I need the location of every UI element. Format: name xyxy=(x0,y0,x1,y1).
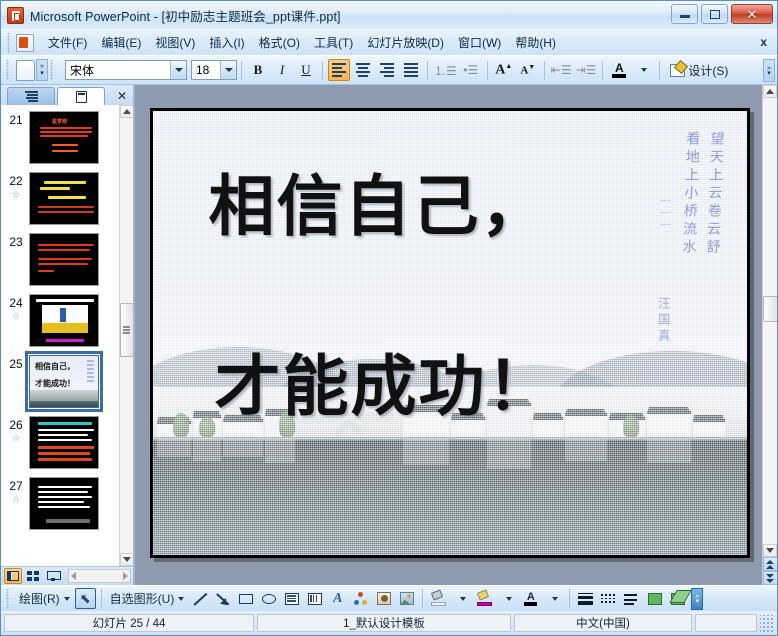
vertical-text-box-icon xyxy=(308,593,322,605)
drawbar-separator-2 xyxy=(422,589,423,608)
slide-thumbnail[interactable] xyxy=(29,477,99,530)
slide-headline-line-1[interactable]: 相信自己， xyxy=(209,153,549,249)
scroll-up-button[interactable] xyxy=(120,105,134,118)
font-color-icon: A xyxy=(524,592,537,606)
status-bar: 幻灯片 25 / 44 1_默认设计模板 中文(中国) xyxy=(1,611,777,635)
menu-item-file[interactable]: 文件(F) xyxy=(41,31,94,54)
title-bar: Microsoft PowerPoint - [初中励志主题班会_ppt课件.p… xyxy=(1,1,777,29)
toolbar-separator-3 xyxy=(427,61,428,80)
bulleted-list-icon: •☰ xyxy=(463,63,478,77)
view-mode-bar xyxy=(1,566,133,585)
calligraphy-dash: ｜｜｜ xyxy=(656,195,672,231)
calligraphy-column-1: 望天上云卷云舒 xyxy=(698,131,724,345)
scrollbar-thumb[interactable] xyxy=(120,303,134,357)
picture-icon xyxy=(400,592,414,605)
font-name-value: 宋体 xyxy=(70,62,94,79)
powerpoint-icon xyxy=(7,7,24,24)
diagram-icon xyxy=(354,592,368,606)
drawbar-gripper[interactable] xyxy=(4,589,13,609)
slide-editing-area: 望天上云卷云舒 看地上小桥流水 ｜｜｜ 汪国真 相信自己， 才能成功！ xyxy=(135,85,777,585)
line-color-button[interactable] xyxy=(474,588,495,609)
current-slide[interactable]: 望天上云卷云舒 看地上小桥流水 ｜｜｜ 汪国真 相信自己， 才能成功！ xyxy=(150,108,750,558)
oval-tool-button[interactable] xyxy=(258,588,279,609)
decrease-font-size-button[interactable]: A▼ xyxy=(517,59,539,81)
increase-indent-button[interactable]: ⇥☰ xyxy=(575,59,598,81)
close-button[interactable]: ✕ xyxy=(731,4,773,24)
draw-menu-label: 绘图(R) xyxy=(19,590,60,607)
menu-item-insert[interactable]: 插入(I) xyxy=(202,31,251,54)
slide-thumbnail[interactable] xyxy=(29,416,99,469)
slide-number: 21 xyxy=(9,113,22,127)
align-center-button[interactable] xyxy=(352,59,374,81)
slide-thumbnail-selected[interactable]: 相信自己， 才能成功！ xyxy=(29,355,99,408)
arrow-style-icon xyxy=(624,592,639,605)
new-document-icon[interactable] xyxy=(16,60,35,81)
line-color-icon xyxy=(477,591,492,606)
tab-outline[interactable] xyxy=(7,87,55,105)
rectangle-icon xyxy=(239,594,253,604)
window-title: Microsoft PowerPoint - [初中励志主题班会_ppt课件.p… xyxy=(30,6,341,25)
slide-thumbnail[interactable] xyxy=(29,233,99,286)
menu-item-help[interactable]: 帮助(H) xyxy=(508,31,563,54)
transition-star-icon: ☆ xyxy=(12,189,20,200)
thumb-meta: 25 xyxy=(3,355,29,371)
tab-slides[interactable] xyxy=(57,87,105,105)
drawbar-separator-1 xyxy=(101,589,102,608)
toolbar-gripper-2[interactable] xyxy=(48,60,57,80)
thumb-meta: 24 ☆ xyxy=(3,294,29,322)
list-item[interactable]: 21 星梦想 xyxy=(1,111,119,164)
word-art-tool-button[interactable]: A xyxy=(327,588,348,609)
slide-sorter-icon xyxy=(27,571,39,581)
bold-button[interactable]: B xyxy=(247,59,269,81)
list-item[interactable]: 23 xyxy=(1,233,119,286)
close-document-icon[interactable]: x xyxy=(760,35,767,49)
font-size-input[interactable]: 18 xyxy=(191,60,237,80)
draw-menu-button[interactable]: 绘图(R) xyxy=(15,588,74,609)
slide-vertical-scrollbar[interactable] xyxy=(762,85,777,585)
line-tool-button[interactable] xyxy=(189,588,210,609)
slides-pane: ✕ 21 星梦想 xyxy=(1,85,135,585)
select-objects-button[interactable]: ⬉ xyxy=(75,588,96,609)
list-item[interactable]: 27 ☆ xyxy=(1,477,119,530)
normal-view-icon xyxy=(7,571,19,581)
font-name-input[interactable]: 宋体 xyxy=(65,60,187,80)
align-center-icon xyxy=(356,63,370,77)
slide-number: 24 xyxy=(9,296,22,310)
text-box-icon xyxy=(285,593,299,605)
arrow-icon xyxy=(216,592,230,606)
fill-color-icon xyxy=(431,591,446,606)
slide-number: 23 xyxy=(9,235,22,249)
align-justify-icon xyxy=(404,63,418,77)
underline-button[interactable]: U xyxy=(295,59,317,81)
window-controls: ✕ xyxy=(671,4,773,24)
align-right-icon xyxy=(380,63,394,77)
line-style-icon xyxy=(578,593,593,605)
editor-body: ✕ 21 星梦想 xyxy=(1,85,777,585)
thumb-meta: 26 ☆ xyxy=(3,416,29,444)
menu-item-window[interactable]: 窗口(W) xyxy=(451,31,508,54)
menu-bar: 文件(F) 编辑(E) 视图(V) 插入(I) 格式(O) 工具(T) 幻灯片放… xyxy=(1,29,777,55)
slide-scroll-down-button[interactable] xyxy=(763,544,777,557)
formatting-toolbar: »▾ 宋体 18 B I U ⒈☰ xyxy=(1,55,777,85)
autoshapes-menu-button[interactable]: 自选图形(U) xyxy=(106,588,189,609)
outline-icon xyxy=(25,91,38,102)
shadow-style-button[interactable] xyxy=(644,588,665,609)
transition-star-icon: ☆ xyxy=(12,433,20,444)
font-size-dropdown-icon[interactable] xyxy=(220,61,236,79)
slide-canvas-wrapper: 望天上云卷云舒 看地上小桥流水 ｜｜｜ 汪国真 相信自己， 才能成功！ xyxy=(135,85,762,585)
pane-horizontal-scrollbar[interactable] xyxy=(68,569,131,583)
thumbnail-scroll-region: 21 星梦想 22 xyxy=(1,105,133,566)
normal-view-button[interactable] xyxy=(4,568,22,584)
pane-tab-strip: ✕ xyxy=(1,85,133,105)
dash-style-icon xyxy=(601,594,616,603)
slide-number: 25 xyxy=(9,357,22,371)
toolbar-separator-7 xyxy=(659,61,660,80)
calligraphy-artwork: 望天上云卷云舒 看地上小桥流水 ｜｜｜ 汪国真 xyxy=(656,131,721,345)
thumb-meta: 23 xyxy=(3,233,29,249)
water-reflection xyxy=(153,437,747,555)
fill-color-dropdown-button[interactable] xyxy=(451,588,472,609)
thumbnail-list: 21 星梦想 22 xyxy=(1,105,119,566)
line-style-button[interactable] xyxy=(575,588,596,609)
previous-slide-button[interactable] xyxy=(763,557,778,571)
slide-scrollbar-track[interactable] xyxy=(763,98,778,544)
clip-art-icon xyxy=(377,592,391,605)
drawbar-separator-3 xyxy=(569,589,570,608)
decrease-indent-icon: ⇤☰ xyxy=(551,63,572,77)
arrow-style-button[interactable] xyxy=(621,588,642,609)
slide-background-image: 望天上云卷云舒 看地上小桥流水 ｜｜｜ 汪国真 相信自己， 才能成功！ xyxy=(153,111,747,555)
slide-sorter-button[interactable] xyxy=(24,568,42,584)
line-color-dropdown-button[interactable] xyxy=(497,588,518,609)
status-blank-cell xyxy=(695,614,757,632)
font-color-button-draw[interactable]: A xyxy=(520,588,541,609)
slide-headline-line-2[interactable]: 才能成功！ xyxy=(215,333,555,429)
3d-style-button[interactable] xyxy=(667,588,688,609)
dash-style-button[interactable] xyxy=(598,588,619,609)
align-justify-button[interactable] xyxy=(400,59,422,81)
scroll-left-icon[interactable] xyxy=(71,572,76,580)
slide-thumbnail[interactable] xyxy=(29,172,99,225)
resize-grip-icon[interactable] xyxy=(760,615,774,633)
font-color-dropdown-button-draw[interactable] xyxy=(543,588,564,609)
maximize-button[interactable] xyxy=(701,4,728,24)
slide-thumbnail[interactable] xyxy=(29,294,99,347)
thumb-meta: 22 ☆ xyxy=(3,172,29,200)
design-icon xyxy=(670,64,685,77)
menu-item-view[interactable]: 视图(V) xyxy=(148,31,202,54)
close-icon: ✕ xyxy=(747,8,758,21)
oval-icon xyxy=(262,594,276,604)
rectangle-tool-button[interactable] xyxy=(235,588,256,609)
italic-button[interactable]: I xyxy=(271,59,293,81)
fill-color-button[interactable] xyxy=(428,588,449,609)
calligraphy-signature: 汪国真 xyxy=(656,297,673,345)
minimize-button[interactable] xyxy=(671,4,698,24)
powerpoint-window: Microsoft PowerPoint - [初中励志主题班会_ppt课件.p… xyxy=(0,0,778,636)
design-button-label: 设计(S) xyxy=(688,62,728,79)
list-item[interactable]: 26 ☆ xyxy=(1,416,119,469)
font-color-icon: A xyxy=(610,59,628,81)
next-slide-button[interactable] xyxy=(763,571,778,585)
design-button[interactable]: 设计(S) xyxy=(664,59,734,82)
word-art-icon: A xyxy=(333,591,342,607)
font-size-value: 18 xyxy=(196,63,209,77)
align-left-button[interactable] xyxy=(328,59,350,81)
bulleted-list-button[interactable]: •☰ xyxy=(460,59,482,81)
font-name-dropdown-icon[interactable] xyxy=(170,61,186,79)
chevron-down-icon xyxy=(641,68,647,72)
slide-show-icon xyxy=(47,571,59,581)
increase-font-size-icon: A▲ xyxy=(495,62,512,79)
increase-font-size-button[interactable]: A▲ xyxy=(493,59,515,81)
slide-number: 27 xyxy=(9,479,22,493)
align-left-icon xyxy=(332,63,346,77)
numbered-list-icon: ⒈☰ xyxy=(434,62,457,79)
decrease-font-size-icon: A▼ xyxy=(520,63,535,77)
toolbar-separator-4 xyxy=(487,61,488,80)
calligraphy-column-2: 看地上小桥流水 xyxy=(674,131,700,345)
thumb-meta: 27 ☆ xyxy=(3,477,29,505)
thumb-meta: 21 xyxy=(3,111,29,127)
slide-scrollbar-thumb[interactable] xyxy=(763,296,778,322)
slide-number: 22 xyxy=(9,174,22,188)
toolbar-separator-1 xyxy=(241,61,242,80)
3d-style-icon xyxy=(671,593,685,605)
chevron-down-icon xyxy=(552,597,558,601)
toolbar-separator-6 xyxy=(602,61,603,80)
status-slide-counter: 幻灯片 25 / 44 xyxy=(4,614,254,632)
decrease-indent-button[interactable]: ⇤☰ xyxy=(550,59,573,81)
toolbar-overflow-left-button[interactable]: »▾ xyxy=(36,59,48,81)
toolbar-separator-2 xyxy=(322,61,323,80)
document-icon xyxy=(16,34,34,52)
toolbar-gripper-1[interactable] xyxy=(4,60,13,80)
scroll-right-icon[interactable] xyxy=(123,572,128,580)
transition-star-icon: ☆ xyxy=(12,311,20,322)
scrollbar-track[interactable] xyxy=(120,118,134,553)
align-right-button[interactable] xyxy=(376,59,398,81)
transition-star-icon: ☆ xyxy=(12,494,20,505)
slide-show-button[interactable] xyxy=(44,568,62,584)
numbered-list-button[interactable]: ⒈☰ xyxy=(433,59,458,81)
slides-icon xyxy=(76,91,87,103)
drawbar-overflow-button[interactable]: »▾ xyxy=(691,588,703,610)
toolbar-overflow-right-button[interactable]: »▾ xyxy=(763,59,775,82)
toolbar-separator-5 xyxy=(544,61,545,80)
clip-art-tool-button[interactable] xyxy=(373,588,394,609)
arrow-tool-button[interactable] xyxy=(212,588,233,609)
thumbnail-scrollbar[interactable] xyxy=(119,105,133,566)
menu-item-edit[interactable]: 编辑(E) xyxy=(94,31,148,54)
autoshapes-menu-label: 自选图形(U) xyxy=(110,590,175,607)
diagram-tool-button[interactable] xyxy=(350,588,371,609)
chevron-down-icon xyxy=(460,597,466,601)
font-color-dropdown-button[interactable] xyxy=(632,59,654,81)
drawing-toolbar: 绘图(R) ⬉ 自选图形(U) A xyxy=(1,585,777,611)
font-color-button[interactable]: A xyxy=(608,59,630,81)
slide-thumbnail[interactable]: 星梦想 xyxy=(29,111,99,164)
list-item[interactable]: 25 相信自己， 才能成功！ xyxy=(1,355,119,408)
chevron-down-icon xyxy=(64,597,70,601)
chevron-down-icon xyxy=(506,597,512,601)
shadow-style-icon xyxy=(648,593,662,605)
slide-scroll-up-button[interactable] xyxy=(763,85,777,98)
scroll-down-button[interactable] xyxy=(120,553,134,566)
text-box-tool-button[interactable] xyxy=(281,588,302,609)
close-pane-icon[interactable]: ✕ xyxy=(117,89,127,103)
menu-item-tools[interactable]: 工具(T) xyxy=(307,31,360,54)
vertical-text-box-tool-button[interactable] xyxy=(304,588,325,609)
list-item[interactable]: 24 ☆ xyxy=(1,294,119,347)
picture-tool-button[interactable] xyxy=(396,588,417,609)
list-item[interactable]: 22 ☆ xyxy=(1,172,119,225)
increase-indent-icon: ⇥☰ xyxy=(576,63,597,77)
line-icon xyxy=(193,592,207,606)
menu-item-format[interactable]: 格式(O) xyxy=(252,31,307,54)
status-design-template: 1_默认设计模板 xyxy=(257,614,511,632)
select-arrow-icon: ⬉ xyxy=(80,591,91,607)
chevron-down-icon xyxy=(178,597,184,601)
menu-gripper[interactable] xyxy=(5,33,14,53)
menu-item-slideshow[interactable]: 幻灯片放映(D) xyxy=(360,31,451,54)
slide-number: 26 xyxy=(9,418,22,432)
status-language: 中文(中国) xyxy=(514,614,692,632)
